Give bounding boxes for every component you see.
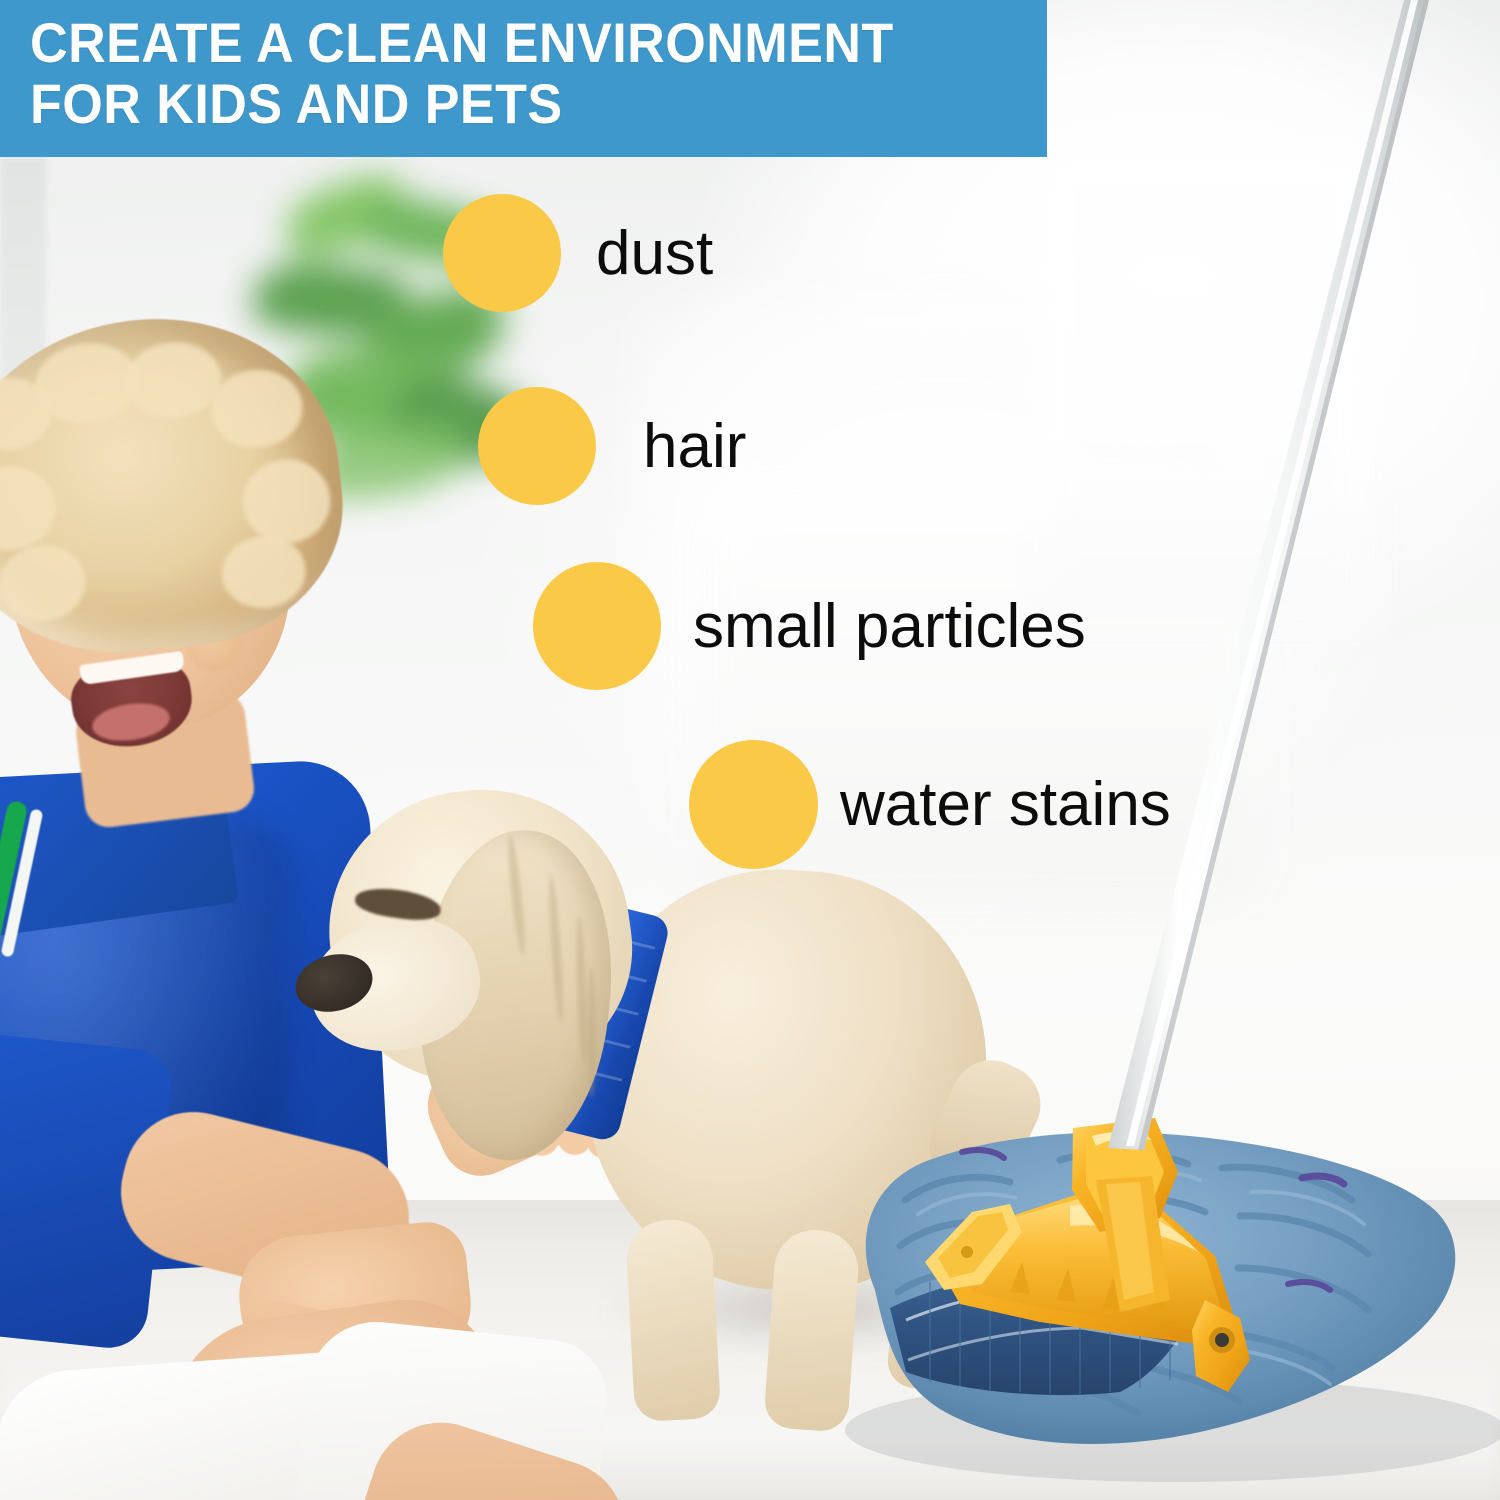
feature-bullet-list: dust hair small particles water stains [0, 0, 1500, 1500]
bullet-label: water stains [840, 769, 1171, 840]
bullet-item-water-stains: water stains [689, 740, 1171, 869]
bullet-item-hair: hair [478, 387, 746, 505]
product-marketing-image: CREATE A CLEAN ENVIRONMENT FOR KIDS AND … [0, 0, 1500, 1500]
bullet-dot-icon [443, 194, 561, 312]
bullet-label: hair [643, 411, 746, 482]
bullet-item-dust: dust [443, 194, 713, 312]
bullet-dot-icon [533, 562, 661, 690]
bullet-dot-icon [478, 387, 596, 505]
bullet-item-small-particles: small particles [533, 562, 1086, 690]
bullet-label: dust [596, 218, 713, 289]
bullet-label: small particles [693, 591, 1086, 662]
bullet-dot-icon [689, 740, 818, 869]
